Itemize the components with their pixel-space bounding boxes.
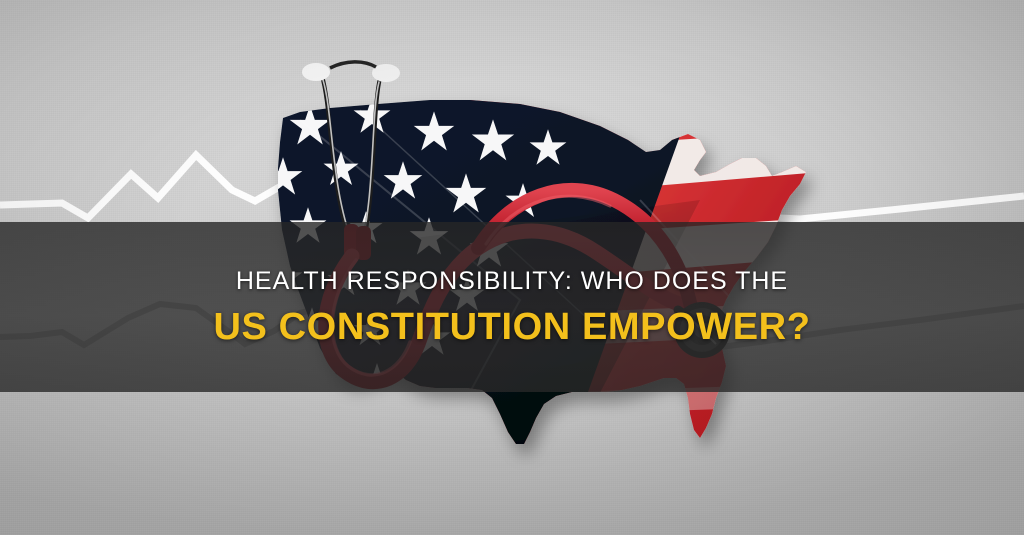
headline-line-1: Health Responsibility: Who Does The <box>236 269 788 294</box>
headline-line-2: US Constitution Empower? <box>213 308 810 346</box>
title-block: Health Responsibility: Who Does The US C… <box>0 222 1024 392</box>
article-header-banner: Health Responsibility: Who Does The US C… <box>0 0 1024 535</box>
